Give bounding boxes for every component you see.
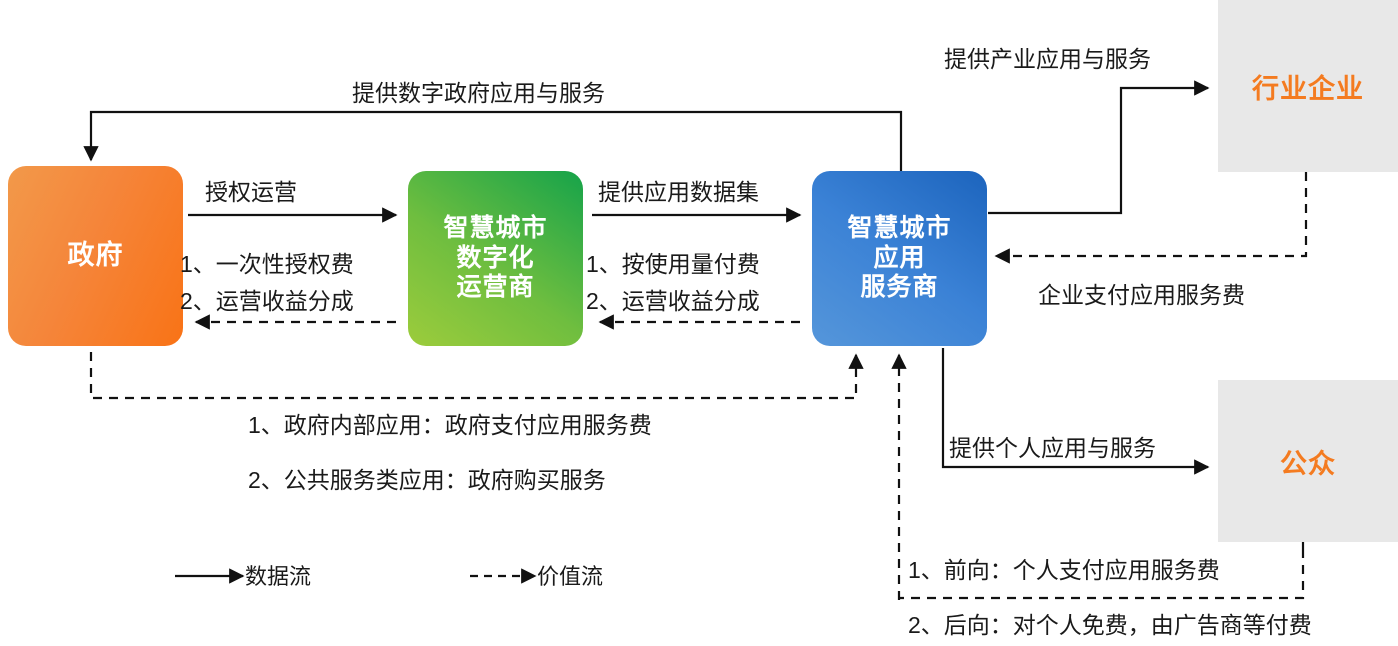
legend-value-flow-label: 价值流: [537, 563, 603, 591]
node-government[interactable]: 政府: [8, 166, 183, 346]
edge-provider-to-industry: [988, 88, 1208, 213]
node-government-label: 政府: [68, 240, 124, 272]
label-provider-to-industry: 提供产业应用与服务: [944, 45, 1151, 74]
label-government-payment-1: 1、政府内部应用：政府支付应用服务费: [248, 411, 652, 440]
node-industry-enterprise-label: 行业企业: [1252, 67, 1364, 106]
label-operator-to-government-2: 2、运营收益分成: [180, 287, 354, 316]
edge-industry-to-provider-dashed: [996, 172, 1306, 256]
label-provider-to-operator-2: 2、运营收益分成: [586, 287, 760, 316]
node-operator-label: 智慧城市 数字化 运营商: [443, 214, 547, 303]
diagram-canvas: 政府 智慧城市 数字化 运营商 智慧城市 应用 服务商 行业企业 公众 提供数字…: [0, 0, 1398, 646]
node-public-label: 公众: [1280, 442, 1336, 481]
node-industry-enterprise[interactable]: 行业企业: [1218, 0, 1398, 172]
label-industry-to-provider: 企业支付应用服务费: [1038, 281, 1245, 310]
legend-data-flow-label: 数据流: [245, 563, 311, 591]
node-public[interactable]: 公众: [1218, 380, 1398, 542]
label-government-to-operator: 授权运营: [205, 178, 297, 207]
label-government-payment-2: 2、公共服务类应用：政府购买服务: [248, 466, 606, 495]
connector-layer: [0, 0, 1398, 646]
node-operator[interactable]: 智慧城市 数字化 运营商: [408, 171, 583, 346]
edge-government-payment-to-provider-dashed: [91, 352, 856, 398]
label-public-payment-1: 1、前向：个人支付应用服务费: [908, 556, 1220, 585]
node-provider-label: 智慧城市 应用 服务商: [847, 214, 951, 303]
label-provider-to-operator-1: 1、按使用量付费: [586, 250, 760, 279]
label-public-payment-2: 2、后向：对个人免费，由广告商等付费: [908, 611, 1312, 640]
label-provider-to-government-top: 提供数字政府应用与服务: [352, 79, 605, 108]
node-provider[interactable]: 智慧城市 应用 服务商: [812, 171, 987, 346]
edge-provider-to-government-top: [91, 112, 901, 171]
label-operator-to-provider: 提供应用数据集: [598, 178, 759, 207]
label-provider-to-public: 提供个人应用与服务: [949, 434, 1156, 463]
label-operator-to-government-1: 1、一次性授权费: [180, 250, 354, 279]
